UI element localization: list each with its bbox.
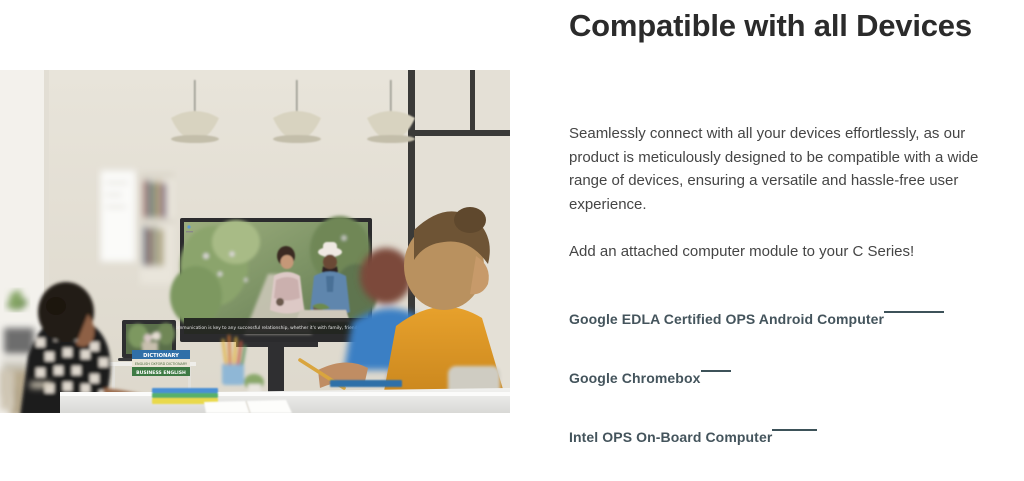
device-link-edla-android[interactable]: Google EDLA Certified OPS Android Comput… [569, 310, 989, 329]
device-link-underline-fill [884, 311, 944, 313]
compatible-device-list: Google EDLA Certified OPS Android Comput… [569, 310, 989, 447]
description-paragraph-1: Seamlessly connect with all your devices… [569, 122, 981, 216]
device-link-intel-ops[interactable]: Intel OPS On-Board Computer [569, 428, 989, 447]
device-link-chromebox[interactable]: Google Chromebox [569, 369, 989, 388]
classroom-photo: Good communication is key to any success… [0, 70, 510, 413]
device-link-label: Google EDLA Certified OPS Android Comput… [569, 310, 884, 329]
content-column: Compatible with all Devices Seamlessly c… [569, 0, 989, 481]
book-title-business-english: BUSINESS ENGLISH [136, 370, 186, 376]
description-paragraph-2: Add an attached computer module to your … [569, 240, 981, 264]
page-title: Compatible with all Devices [569, 6, 999, 46]
device-link-label: Intel OPS On-Board Computer [569, 428, 772, 447]
device-link-underline-fill [701, 370, 731, 372]
description-block: Seamlessly connect with all your devices… [569, 122, 981, 264]
page-root: Good communication is key to any success… [0, 0, 1024, 481]
feature-image: Good communication is key to any success… [0, 70, 510, 413]
book-subtitle: ENGLISH OXFORD DICTIONARY [135, 362, 188, 366]
device-link-underline-fill [772, 429, 817, 431]
book-title-dictionary: DICTIONARY [143, 353, 179, 359]
device-link-label: Google Chromebox [569, 369, 701, 388]
classroom-photo-illustration: Good communication is key to any success… [0, 70, 510, 413]
